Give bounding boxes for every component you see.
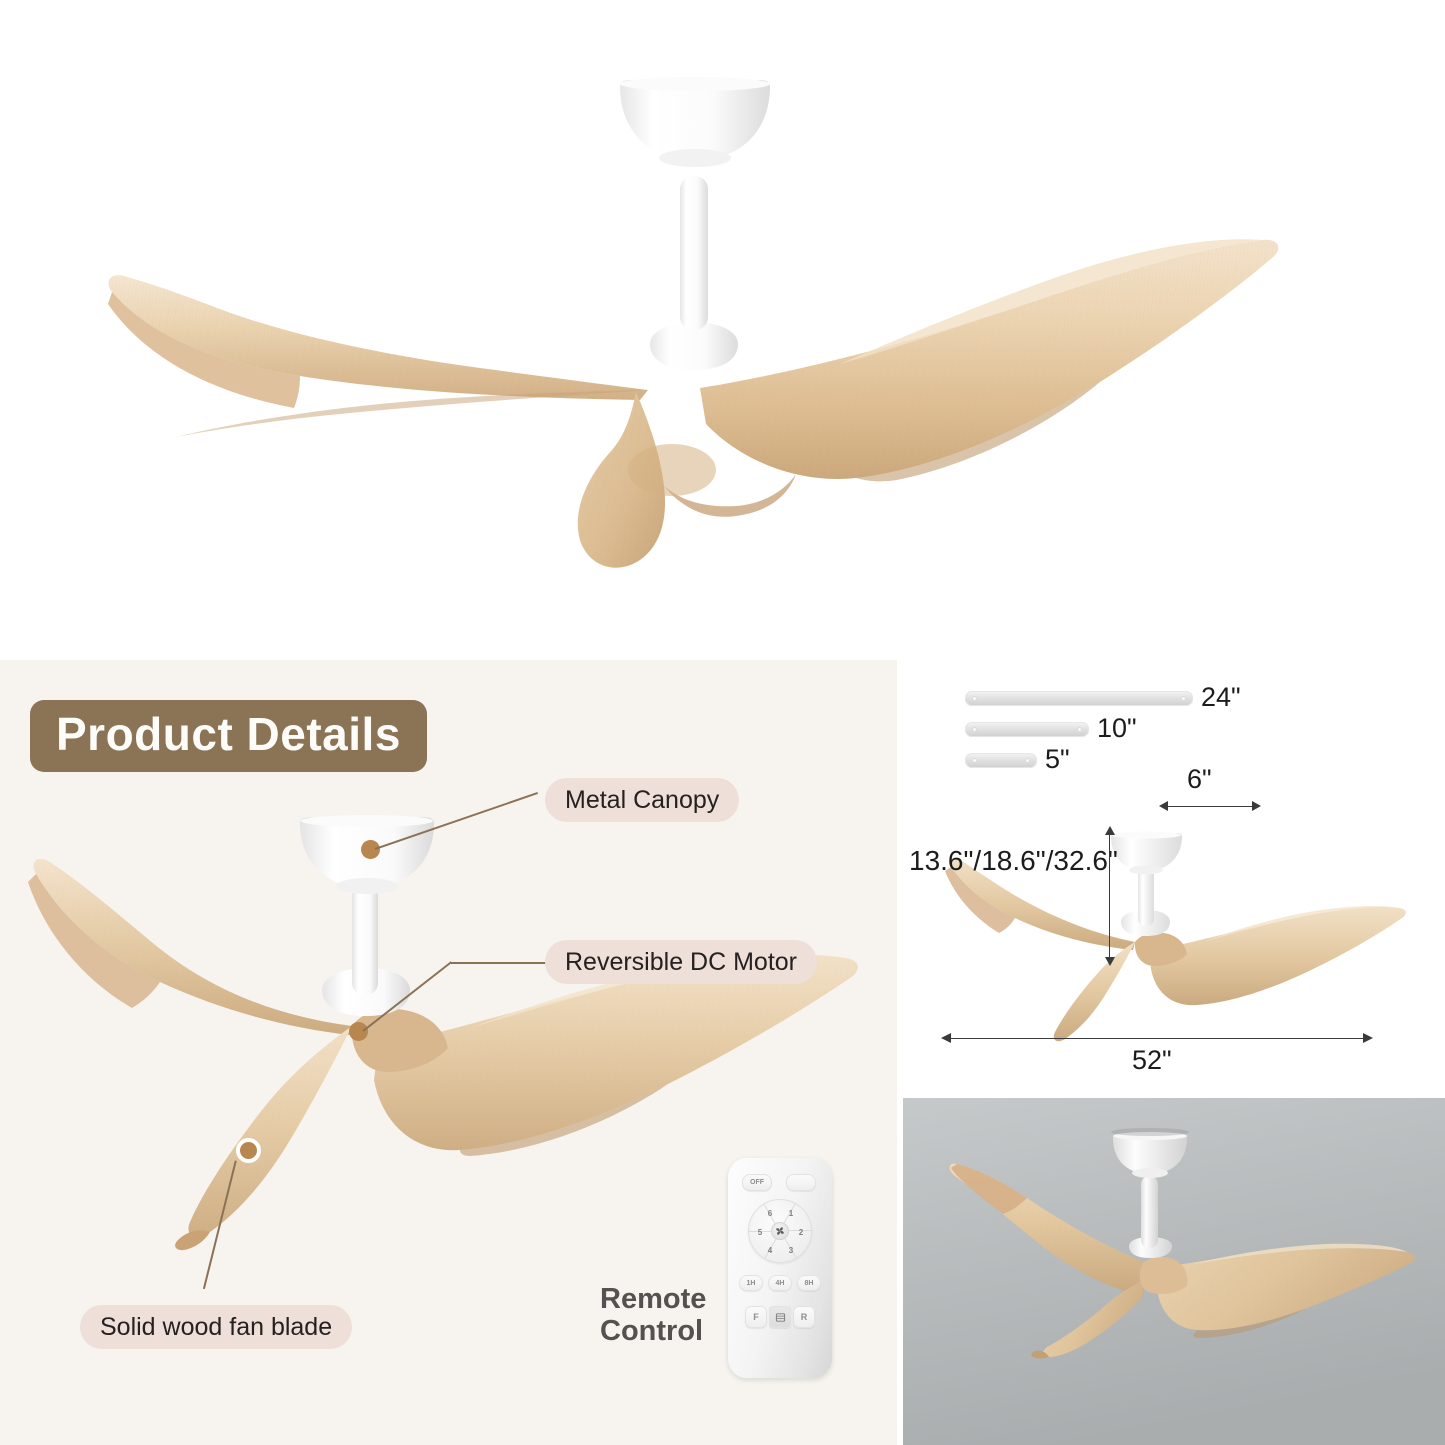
height-arrowhead-bottom: [1105, 957, 1115, 966]
callout-solid-wood-fan-blade-label: Solid wood fan blade: [100, 1313, 332, 1342]
dial-number-4[interactable]: 4: [765, 1246, 775, 1255]
dial-number-3[interactable]: 3: [786, 1246, 796, 1255]
remote-forward-button[interactable]: F: [745, 1306, 767, 1328]
remote-speed-dial[interactable]: 1 2 3 4 5 6: [748, 1199, 812, 1263]
hero-fan-illustration: [0, 0, 1445, 660]
height-arrowhead-top: [1105, 826, 1115, 835]
remote-light-button[interactable]: [786, 1174, 816, 1191]
callout-reversible-dc-motor-label: Reversible DC Motor: [565, 948, 797, 977]
callout-leader2-reversible-dc-motor: [451, 962, 547, 964]
blade-span-arrowhead-right: [1363, 1033, 1373, 1043]
dial-number-6[interactable]: 6: [765, 1209, 775, 1218]
remote-timer-4h-label: 4H: [776, 1280, 785, 1287]
remote-control-title-line2: Control: [600, 1315, 706, 1347]
remote-control-illustration: OFF 1 2 3 4 5 6 1H: [728, 1158, 832, 1378]
hero-product-image: [0, 0, 1445, 660]
remote-timer-1h-label: 1H: [747, 1280, 756, 1287]
blade-span-label: 52": [1132, 1045, 1172, 1076]
remote-timer-8h-button[interactable]: 8H: [797, 1275, 821, 1291]
fan-mode-icon[interactable]: [769, 1306, 791, 1328]
callout-dot-metal-canopy: [361, 840, 380, 859]
remote-timer-1h-button[interactable]: 1H: [739, 1275, 763, 1291]
dial-number-5[interactable]: 5: [755, 1228, 765, 1237]
dimensions-panel: 24" 10" 5" 6": [897, 660, 1445, 1098]
dial-number-2[interactable]: 2: [796, 1228, 806, 1237]
callout-solid-wood-fan-blade[interactable]: Solid wood fan blade: [80, 1305, 352, 1349]
callout-reversible-dc-motor[interactable]: Reversible DC Motor: [545, 940, 817, 984]
dial-number-1[interactable]: 1: [786, 1209, 796, 1218]
fan-icon[interactable]: [771, 1222, 789, 1240]
remote-body: [728, 1158, 832, 1378]
remote-timer-4h-button[interactable]: 4H: [768, 1275, 792, 1291]
callout-metal-canopy-label: Metal Canopy: [565, 786, 719, 815]
callout-metal-canopy[interactable]: Metal Canopy: [545, 778, 739, 822]
remote-control-title: Remote Control: [600, 1283, 706, 1348]
remote-timer-8h-label: 8H: [805, 1280, 814, 1287]
remote-reverse-button[interactable]: R: [793, 1306, 815, 1328]
remote-reverse-label: R: [801, 1312, 808, 1322]
callout-dot-solid-wood-fan-blade: [236, 1138, 261, 1163]
blade-span-arrowhead-left: [941, 1033, 951, 1043]
lifestyle-photo-panel: [903, 1098, 1445, 1445]
height-arrow: [1109, 832, 1110, 962]
remote-control-title-line1: Remote: [600, 1283, 706, 1315]
height-options-label: 13.6"/18.6"/32.6": [909, 845, 1118, 877]
callout-dot-reversible-dc-motor: [349, 1022, 368, 1041]
remote-forward-label: F: [753, 1312, 759, 1322]
blade-span-arrow: [949, 1038, 1365, 1039]
remote-power-label: OFF: [750, 1179, 764, 1186]
installed-fan-photo: [903, 1098, 1445, 1445]
remote-power-button[interactable]: OFF: [742, 1174, 772, 1191]
